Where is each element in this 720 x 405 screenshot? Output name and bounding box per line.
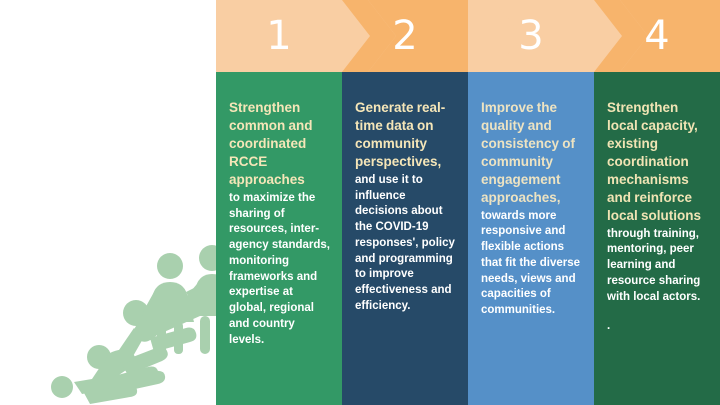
step-number-4: 4 xyxy=(594,0,720,72)
figure-1-leg xyxy=(122,371,165,391)
figure-1-arm xyxy=(84,385,137,404)
figure-5-arm-left xyxy=(183,284,205,310)
pictogram-figures xyxy=(51,245,224,404)
step-number-2: 2 xyxy=(342,0,468,72)
figure-4-leg-right xyxy=(174,322,183,354)
priority-body-2: and use it to influence decisions about … xyxy=(355,173,456,315)
priority-column-3: Improve the quality and consistency of c… xyxy=(468,72,594,405)
figure-1-torso xyxy=(74,375,125,394)
people-progress-pictogram xyxy=(44,236,224,405)
priority-body-3: towards more responsive and flexible act… xyxy=(481,209,582,319)
figure-2-arm xyxy=(120,347,168,375)
priority-body-4: through training, mentoring, peer learni… xyxy=(607,227,708,306)
figure-3-arm xyxy=(158,301,206,332)
slide-canvas: 1 2 3 4 Strengthen common and coordinate… xyxy=(0,0,720,405)
priority-column-1: Strengthen common and coordinated RCCE a… xyxy=(216,72,342,405)
figure-3-head xyxy=(123,300,149,326)
priority-heading-4: Strengthen local capacity, existing coor… xyxy=(607,99,708,225)
figure-3-leg-back xyxy=(117,328,144,363)
figure-2-torso xyxy=(101,350,136,380)
step-number-band: 1 2 3 4 xyxy=(216,0,720,72)
figure-2-leg-front xyxy=(114,367,158,389)
figure-2-leg-back xyxy=(86,367,110,397)
figure-4-leg-left xyxy=(157,322,166,354)
step-number-3: 3 xyxy=(468,0,594,72)
priority-body-1: to maximize the sharing of resources, in… xyxy=(229,191,330,349)
figure-3-torso xyxy=(134,306,174,342)
figure-5-leg-left xyxy=(200,316,210,354)
figure-2-head xyxy=(87,345,111,369)
figure-4-arm-right xyxy=(186,281,217,304)
figure-3-leg-front xyxy=(150,328,196,352)
priority-body-4-tail: . xyxy=(607,319,708,335)
figure-4-dress xyxy=(146,282,194,322)
step-number-1: 1 xyxy=(216,0,342,72)
priority-columns: Strengthen common and coordinated RCCE a… xyxy=(216,72,720,405)
priority-heading-2: Generate real-time data on community per… xyxy=(355,99,456,171)
priority-heading-3: Improve the quality and consistency of c… xyxy=(481,99,582,207)
priority-column-2: Generate real-time data on community per… xyxy=(342,72,468,405)
figure-1-head xyxy=(51,376,73,398)
figure-4-head xyxy=(157,253,183,279)
priority-heading-1: Strengthen common and coordinated RCCE a… xyxy=(229,99,330,189)
priority-column-4: Strengthen local capacity, existing coor… xyxy=(594,72,720,405)
figure-4-arm-left xyxy=(142,292,163,321)
